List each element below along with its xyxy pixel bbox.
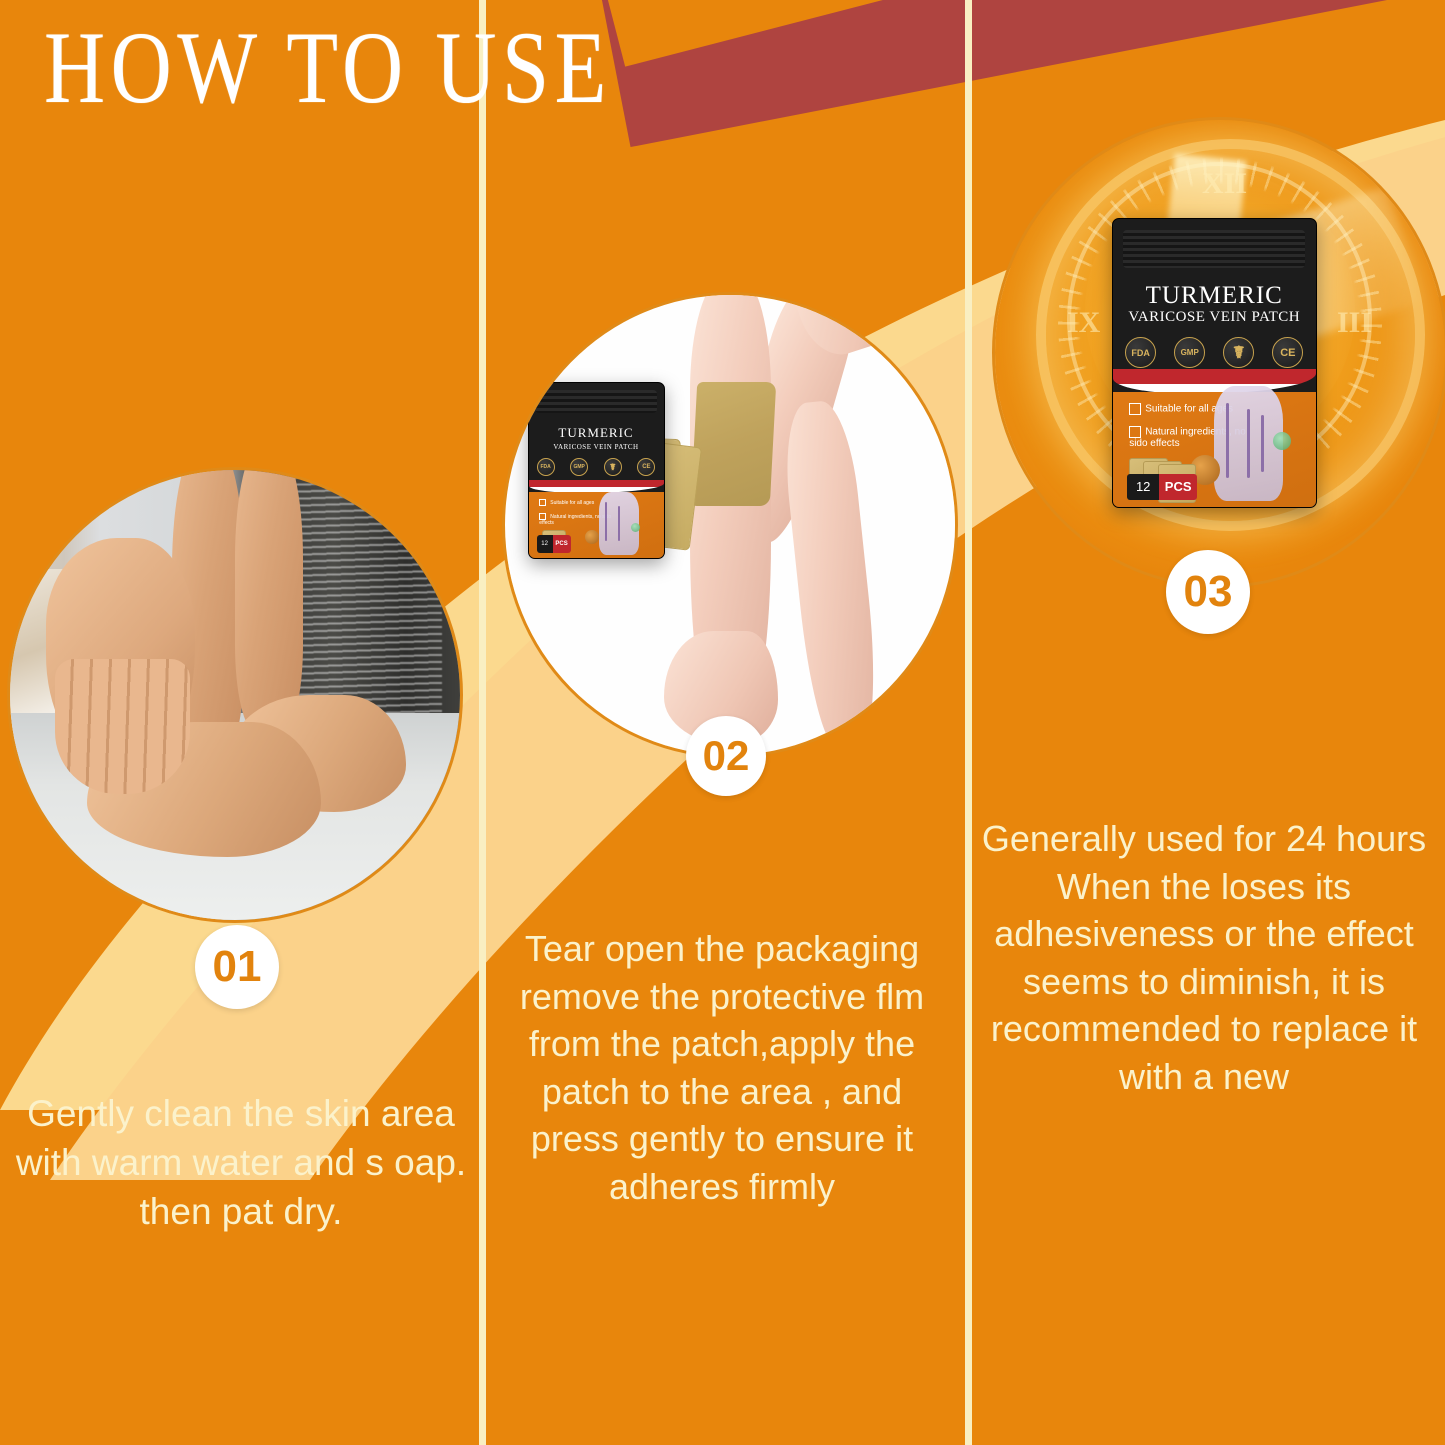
page-title: HOW TO USE <box>44 16 612 119</box>
package-count-large: 12 <box>1127 474 1159 500</box>
package-brand-large: TURMERIC <box>1113 282 1316 310</box>
clock-numeral-ix: IX <box>1067 306 1100 340</box>
column-divider-2 <box>965 0 972 1445</box>
caduceus-icon: ☤ <box>604 458 622 476</box>
step-2-text: Tear open the packaging remove the prote… <box>496 925 948 1210</box>
package-count-unit: PCS <box>553 535 571 552</box>
step-1-image <box>10 470 460 920</box>
package-subtitle: VARICOSE VEIN PATCH <box>529 443 664 451</box>
package-count: 12 <box>537 535 553 552</box>
package-brand: TURMERIC <box>529 425 664 441</box>
step-3-number-badge: 03 <box>1166 550 1250 634</box>
clock-numeral-iii: III <box>1337 306 1372 340</box>
fda-badge: FDA <box>537 458 555 476</box>
step-3-text: Generally used for 24 hours When the los… <box>968 815 1440 1100</box>
caduceus-icon-large: ☤ <box>1223 337 1254 368</box>
how-to-use-infographic: HOW TO USE <box>0 0 1445 1445</box>
product-package-large: TURMERIC VARICOSE VEIN PATCH FDA GMP ☤ C… <box>1112 218 1317 508</box>
clock-numeral-xii: XII <box>1202 167 1247 201</box>
step-2-image: TURMERIC VARICOSE VEIN PATCH FDA GMP ☤ C… <box>505 295 955 755</box>
product-package-small: TURMERIC VARICOSE VEIN PATCH FDA GMP ☤ C… <box>528 382 665 559</box>
column-divider-1 <box>479 0 486 1445</box>
step-1-number-badge: 01 <box>195 925 279 1009</box>
ce-badge-large: CE <box>1272 337 1303 368</box>
fda-badge-large: FDA <box>1125 337 1156 368</box>
package-count-unit-large: PCS <box>1159 474 1197 500</box>
gmp-badge: GMP <box>570 458 588 476</box>
ce-badge: CE <box>637 458 655 476</box>
feature-1-label: Suitable for all ages <box>550 500 594 506</box>
package-subtitle-large: VARICOSE VEIN PATCH <box>1113 309 1316 326</box>
gmp-badge-large: GMP <box>1174 337 1205 368</box>
step-3-image: XII III VI IX TURMERIC VARICOSE VEIN PAT… <box>995 120 1445 585</box>
step-2-number-badge: 02 <box>686 716 766 796</box>
step-1-text: Gently clean the skin area with warm wat… <box>8 1090 474 1236</box>
